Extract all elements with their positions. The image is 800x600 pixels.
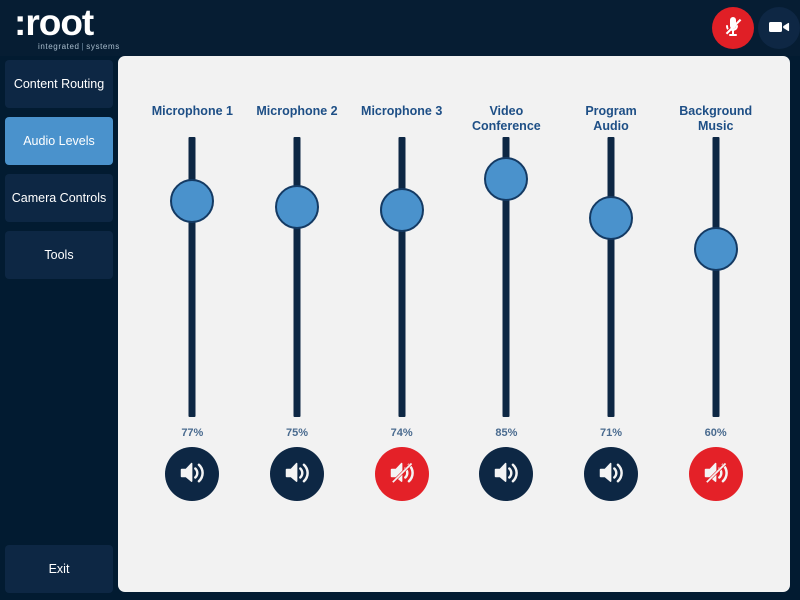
sidebar-item-label: Audio Levels <box>23 134 95 148</box>
channel-value-label: 75% <box>286 427 308 441</box>
app-header: :root integrated|systems <box>0 0 800 56</box>
brand-tagline-right: systems <box>86 42 120 51</box>
channel-value-label: 71% <box>600 427 622 441</box>
speaker-muted-icon <box>387 458 417 491</box>
channel-strip: Microphone 374% <box>349 104 454 592</box>
channel-label: Program Audio <box>585 104 636 136</box>
slider-track[interactable] <box>712 137 719 417</box>
mute-toggle-button[interactable] <box>479 447 533 501</box>
sidebar-item-tools[interactable]: Tools <box>5 231 113 279</box>
mute-toggle-button[interactable] <box>584 447 638 501</box>
volume-slider[interactable] <box>581 137 641 417</box>
volume-slider[interactable] <box>686 137 746 417</box>
channel-label: Microphone 1 <box>152 104 233 136</box>
brand-wordmark: :root <box>14 4 120 41</box>
slider-thumb[interactable] <box>484 157 528 201</box>
mixer-strips: Microphone 177% Microphone 275% Micropho… <box>118 56 790 592</box>
mute-toggle-button[interactable] <box>689 447 743 501</box>
speaker-on-icon <box>596 458 626 491</box>
volume-slider[interactable] <box>372 137 432 417</box>
mute-toggle-button[interactable] <box>270 447 324 501</box>
channel-strip: Microphone 177% <box>140 104 245 592</box>
brand-logo: :root integrated|systems <box>14 4 120 51</box>
channel-value-label: 60% <box>705 427 727 441</box>
channel-value-label: 77% <box>181 427 203 441</box>
audio-levels-panel: Microphone 177% Microphone 275% Micropho… <box>118 56 790 592</box>
exit-button[interactable]: Exit <box>5 545 113 593</box>
slider-thumb[interactable] <box>589 196 633 240</box>
brand-tagline: integrated|systems <box>38 43 120 51</box>
slider-thumb[interactable] <box>170 179 214 223</box>
sidebar-item-audio-levels[interactable]: Audio Levels <box>5 117 113 165</box>
brand-tagline-left: integrated <box>38 42 80 51</box>
sidebar-item-label: Camera Controls <box>12 191 106 205</box>
volume-slider[interactable] <box>476 137 536 417</box>
speaker-on-icon <box>177 458 207 491</box>
slider-track[interactable] <box>608 137 615 417</box>
slider-thumb[interactable] <box>380 188 424 232</box>
sidebar-item-label: Content Routing <box>14 77 104 91</box>
speaker-on-icon <box>491 458 521 491</box>
channel-strip: Video Conference85% <box>454 104 559 592</box>
channel-strip: Microphone 275% <box>245 104 350 592</box>
sidebar-item-camera-controls[interactable]: Camera Controls <box>5 174 113 222</box>
channel-label: Microphone 2 <box>256 104 337 136</box>
channel-strip: Program Audio71% <box>559 104 664 592</box>
volume-slider[interactable] <box>267 137 327 417</box>
slider-thumb[interactable] <box>694 227 738 271</box>
mute-toggle-button[interactable] <box>375 447 429 501</box>
sidebar-item-content-routing[interactable]: Content Routing <box>5 60 113 108</box>
slider-track[interactable] <box>398 137 405 417</box>
mic-mute-button[interactable] <box>712 7 754 49</box>
channel-strip: Background Music60% <box>663 104 768 592</box>
camera-button[interactable] <box>758 7 800 49</box>
microphone-muted-icon <box>721 15 745 42</box>
speaker-muted-icon <box>701 458 731 491</box>
channel-label: Background Music <box>679 104 752 136</box>
volume-slider[interactable] <box>162 137 222 417</box>
exit-button-label: Exit <box>49 562 70 576</box>
channel-value-label: 74% <box>391 427 413 441</box>
mute-toggle-button[interactable] <box>165 447 219 501</box>
sidebar: Content Routing Audio Levels Camera Cont… <box>0 56 118 600</box>
channel-label: Microphone 3 <box>361 104 442 136</box>
video-camera-icon <box>767 15 791 42</box>
channel-value-label: 85% <box>495 427 517 441</box>
slider-thumb[interactable] <box>275 185 319 229</box>
speaker-on-icon <box>282 458 312 491</box>
sidebar-item-label: Tools <box>44 248 73 262</box>
slider-track[interactable] <box>294 137 301 417</box>
channel-label: Video Conference <box>472 104 541 136</box>
